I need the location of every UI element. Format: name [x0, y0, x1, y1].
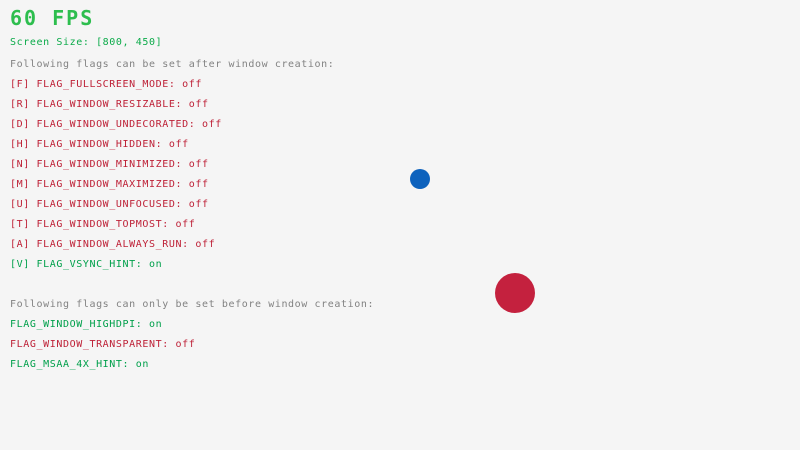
flag-line-flag-window-unfocused[interactable]: [U] FLAG_WINDOW_UNFOCUSED: off — [10, 200, 209, 210]
fps-counter: 60 FPS — [10, 8, 94, 28]
flag-line-flag-window-topmost[interactable]: [T] FLAG_WINDOW_TOPMOST: off — [10, 220, 195, 230]
flag-line-flag-window-transparent: FLAG_WINDOW_TRANSPARENT: off — [10, 340, 195, 350]
flag-line-flag-window-resizable[interactable]: [R] FLAG_WINDOW_RESIZABLE: off — [10, 100, 209, 110]
flag-line-flag-window-highdpi: FLAG_WINDOW_HIGHDPI: on — [10, 320, 162, 330]
raylib-window-flags-canvas: 60 FPS Screen Size: [800, 450] Following… — [0, 0, 800, 450]
flag-line-flag-window-always-run[interactable]: [A] FLAG_WINDOW_ALWAYS_RUN: off — [10, 240, 215, 250]
flag-line-flag-window-undecorated[interactable]: [D] FLAG_WINDOW_UNDECORATED: off — [10, 120, 222, 130]
flag-line-flag-window-minimized[interactable]: [N] FLAG_WINDOW_MINIMIZED: off — [10, 160, 209, 170]
flag-line-flag-msaa-4x-hint: FLAG_MSAA_4X_HINT: on — [10, 360, 149, 370]
ball-blue — [410, 169, 430, 189]
flag-line-flag-window-maximized[interactable]: [M] FLAG_WINDOW_MAXIMIZED: off — [10, 180, 209, 190]
ball-red — [495, 273, 535, 313]
screen-size-label: Screen Size: [800, 450] — [10, 38, 162, 48]
pre-creation-flags-header: Following flags can only be set before w… — [10, 300, 374, 310]
post-creation-flags-header: Following flags can be set after window … — [10, 60, 334, 70]
flag-line-flag-fullscreen-mode[interactable]: [F] FLAG_FULLSCREEN_MODE: off — [10, 80, 202, 90]
flag-line-flag-window-hidden[interactable]: [H] FLAG_WINDOW_HIDDEN: off — [10, 140, 189, 150]
flag-line-flag-vsync-hint[interactable]: [V] FLAG_VSYNC_HINT: on — [10, 260, 162, 270]
